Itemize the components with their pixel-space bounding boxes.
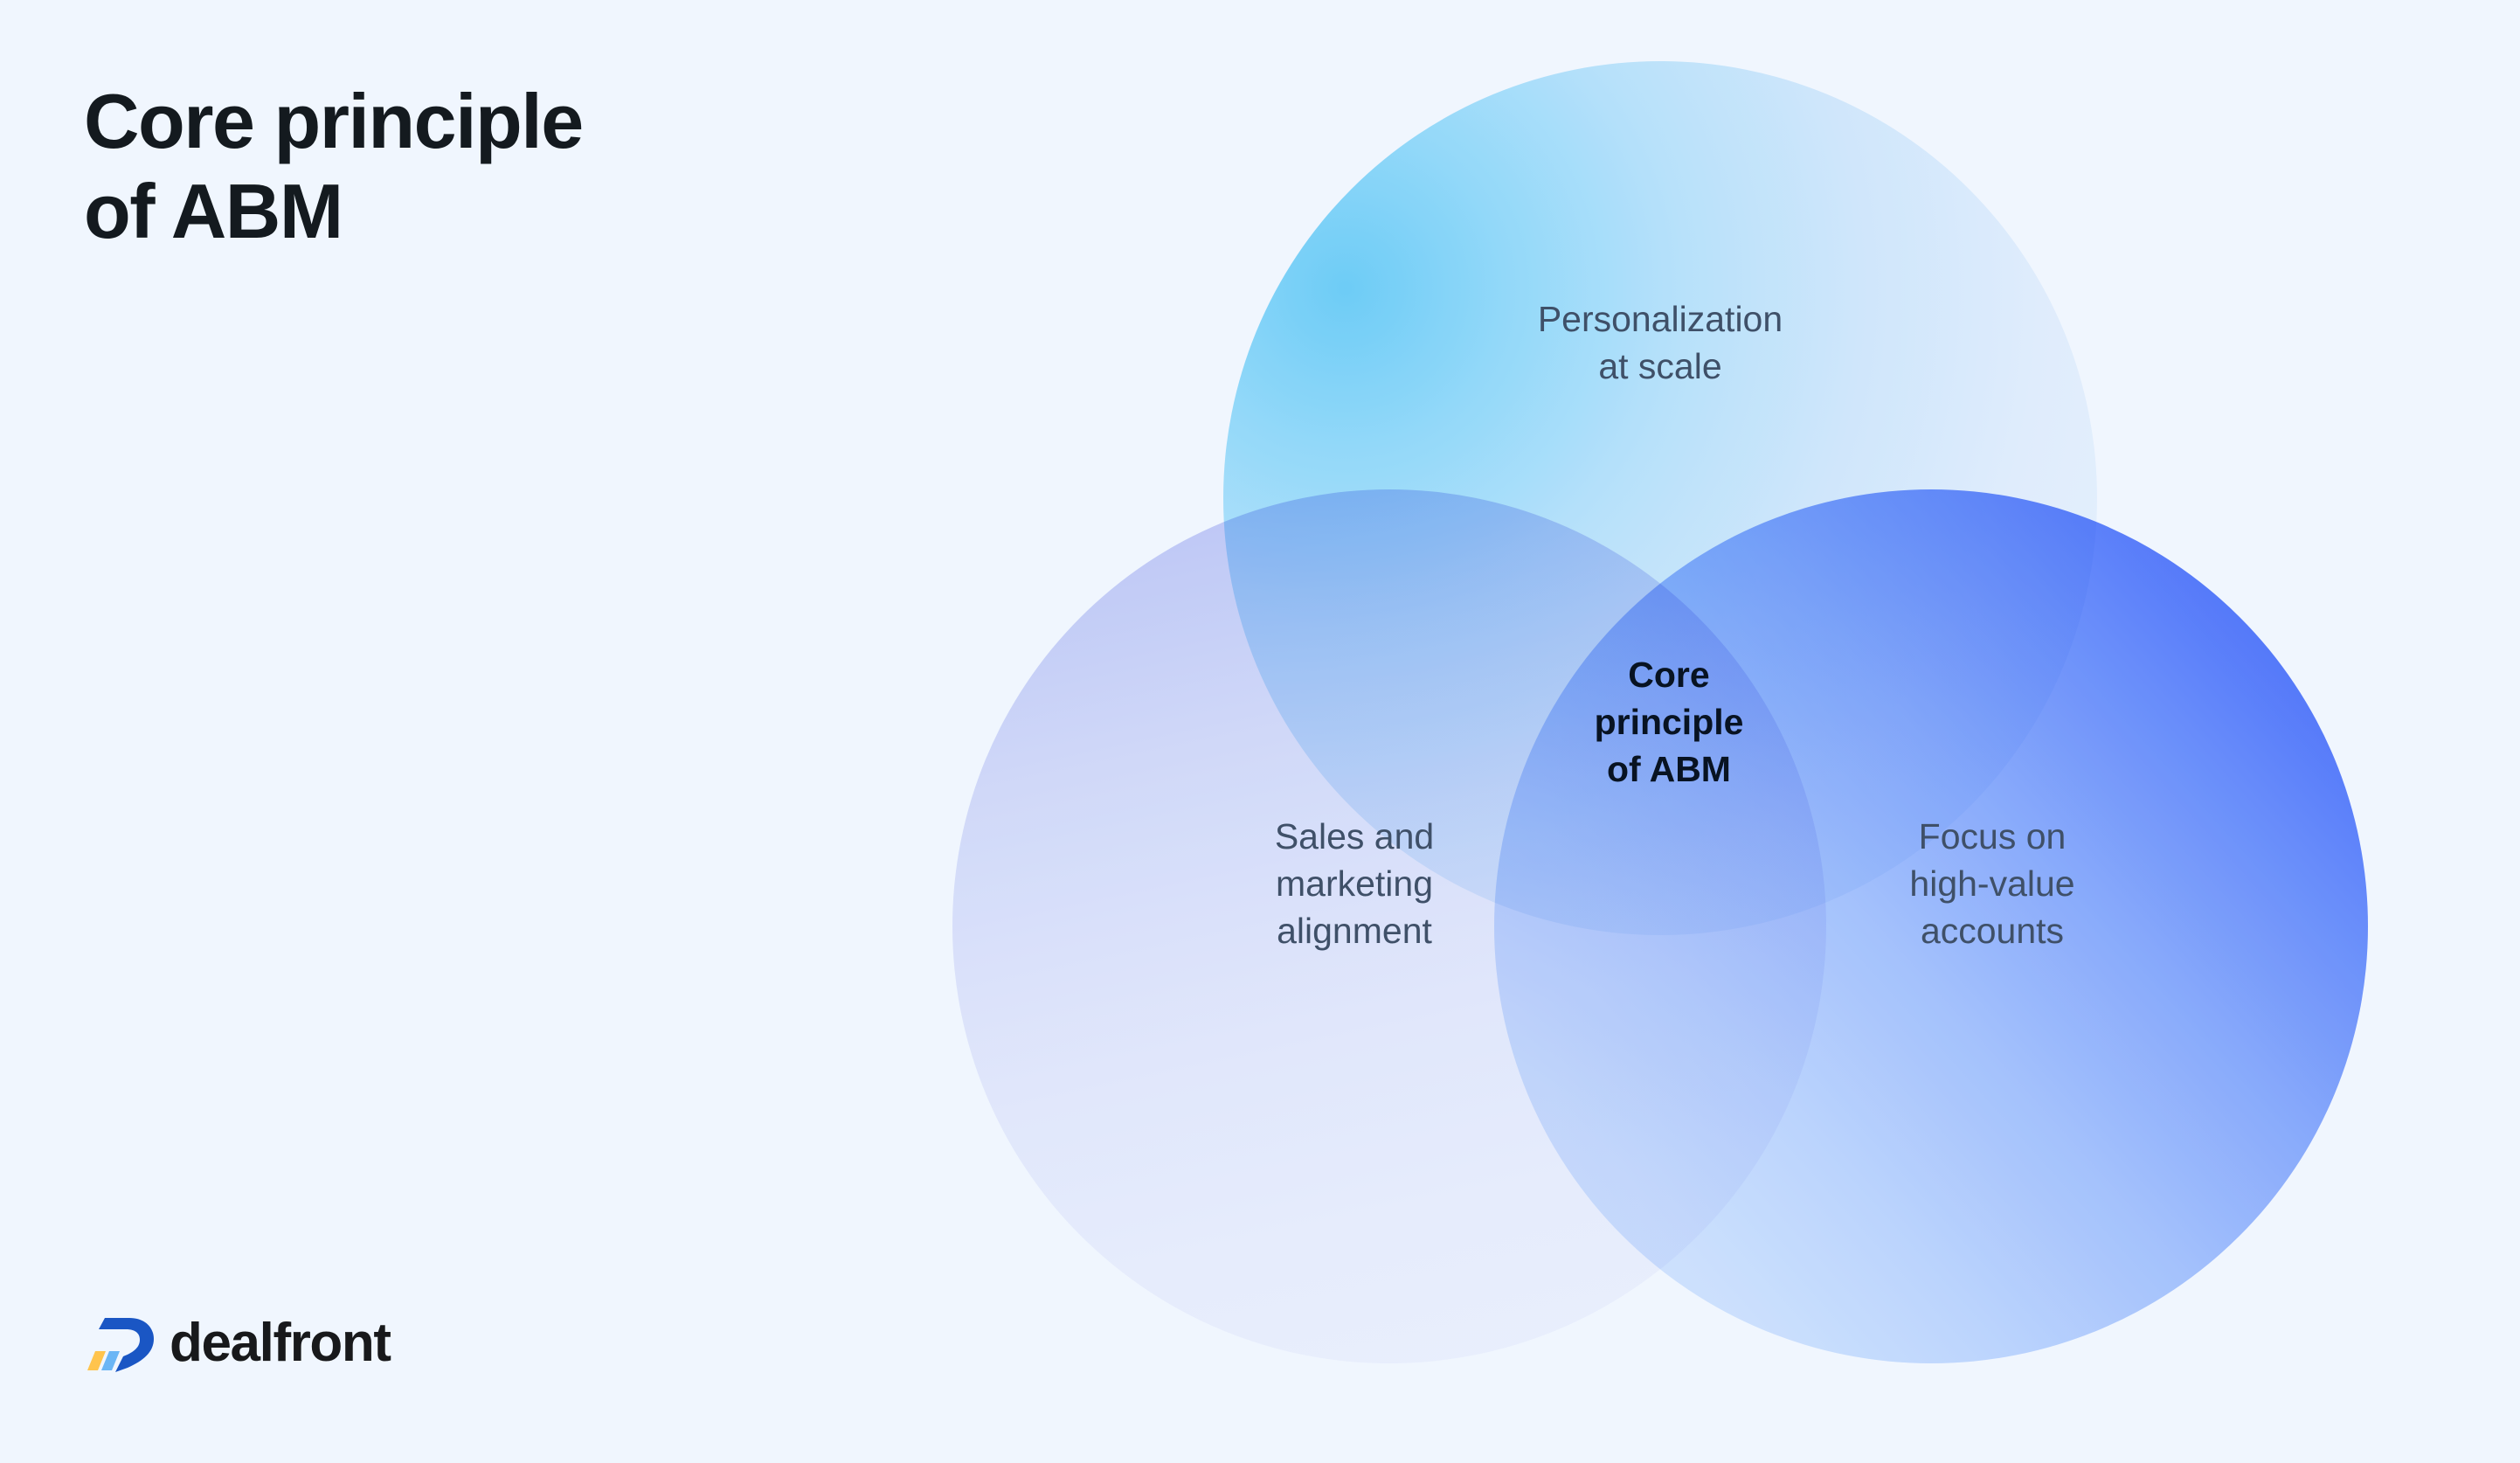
dealfront-logo: dealfront [84,1311,391,1376]
page-title-line-2: of ABM [84,167,958,257]
dealfront-mark-icon [84,1311,157,1376]
dealfront-wordmark: dealfront [170,1316,391,1370]
venn-label-sales-marketing: Sales and marketing alignment [1158,813,1551,954]
venn-label-high-value-accounts: Focus on high-value accounts [1796,813,2189,954]
venn-diagram: Personalization at scale Sales and marke… [952,61,2455,1372]
venn-label-core-principle: Core principle of ABM [1533,651,1804,793]
page-title-line-1: Core principle [84,77,958,167]
page-title: Core principle of ABM [84,77,958,257]
venn-label-personalization: Personalization at scale [1442,295,1879,390]
